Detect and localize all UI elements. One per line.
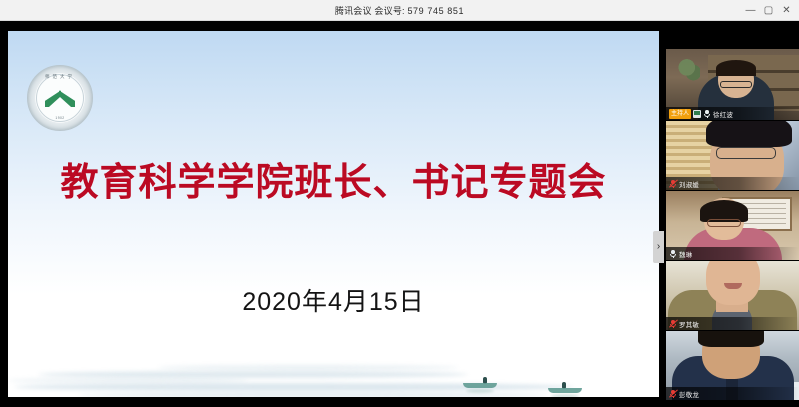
participant-nameplate: 主持人 徐红波 (666, 107, 799, 120)
person-hair (716, 60, 756, 76)
participant-name: 徐红波 (713, 109, 733, 119)
microphone-muted-icon (669, 390, 677, 398)
host-badge: 主持人 (669, 109, 691, 119)
boat-hull (463, 383, 497, 388)
participant-tile[interactable]: 刘淑媛 (666, 121, 799, 191)
participant-tile[interactable]: 彭敬龙 (666, 331, 799, 401)
participant-nameplate: 魏琳 (666, 247, 799, 260)
meeting-window-body: 师范大学 1902 教育科学学院班长、书记专题会 2020年4月15日 › (0, 21, 799, 407)
participant-tile[interactable]: 主持人 徐红波 (666, 49, 799, 121)
participant-tile[interactable]: 罗其敏 (666, 261, 799, 331)
university-logo: 师范大学 1902 (27, 65, 93, 131)
boat-illustration (548, 383, 582, 393)
meeting-number: 579 745 851 (407, 6, 464, 16)
person-glasses (716, 147, 776, 159)
water-wave (158, 365, 458, 370)
participant-video-filmstrip[interactable]: 主持人 徐红波 刘淑媛 (666, 49, 799, 407)
boat-reflection (466, 389, 494, 393)
participant-name: 魏琳 (679, 249, 692, 259)
microphone-muted-icon (669, 180, 677, 188)
window-controls: — ▢ ✕ (742, 0, 795, 21)
minimize-button[interactable]: — (742, 2, 759, 19)
water-wave (38, 371, 468, 378)
panel-divider: › (659, 31, 666, 397)
logo-top-text: 师范大学 (27, 74, 93, 80)
participant-name: 彭敬龙 (679, 389, 699, 399)
person-hair (706, 121, 792, 147)
plant-decor (678, 57, 700, 83)
shared-screen-slide[interactable]: 师范大学 1902 教育科学学院班长、书记专题会 2020年4月15日 (8, 31, 659, 397)
boat-illustration (463, 378, 497, 388)
collapse-panel-button[interactable]: › (653, 231, 664, 263)
close-button[interactable]: ✕ (778, 2, 795, 19)
boat-reflection (551, 394, 579, 397)
person-glasses (720, 81, 752, 88)
participant-name: 刘淑媛 (679, 179, 699, 189)
boat-hull (548, 388, 582, 393)
person-hair (698, 331, 764, 347)
logo-mountain-icon (45, 90, 75, 108)
microphone-muted-icon (669, 320, 677, 328)
participant-nameplate: 彭敬龙 (666, 387, 799, 400)
maximize-button[interactable]: ▢ (760, 2, 777, 19)
app-name: 腾讯会议 (335, 6, 372, 16)
participant-nameplate: 刘淑媛 (666, 177, 799, 190)
meeting-number-label: 会议号: (374, 6, 404, 16)
microphone-icon (669, 250, 677, 258)
participant-nameplate: 罗其敏 (666, 317, 799, 330)
meeting-title: 腾讯会议 会议号: 579 745 851 (335, 4, 464, 17)
slide-date: 2020年4月15日 (8, 282, 659, 318)
participant-tile[interactable]: 魏琳 (666, 191, 799, 261)
screen-share-icon (693, 110, 701, 118)
participant-name: 罗其敏 (679, 319, 699, 329)
person-glasses (707, 219, 741, 227)
window-title-bar: 腾讯会议 会议号: 579 745 851 — ▢ ✕ (0, 0, 799, 21)
logo-bottom-text: 1902 (27, 116, 93, 120)
microphone-icon (703, 110, 711, 118)
slide-title: 教育科学学院班长、书记专题会 (8, 151, 659, 206)
